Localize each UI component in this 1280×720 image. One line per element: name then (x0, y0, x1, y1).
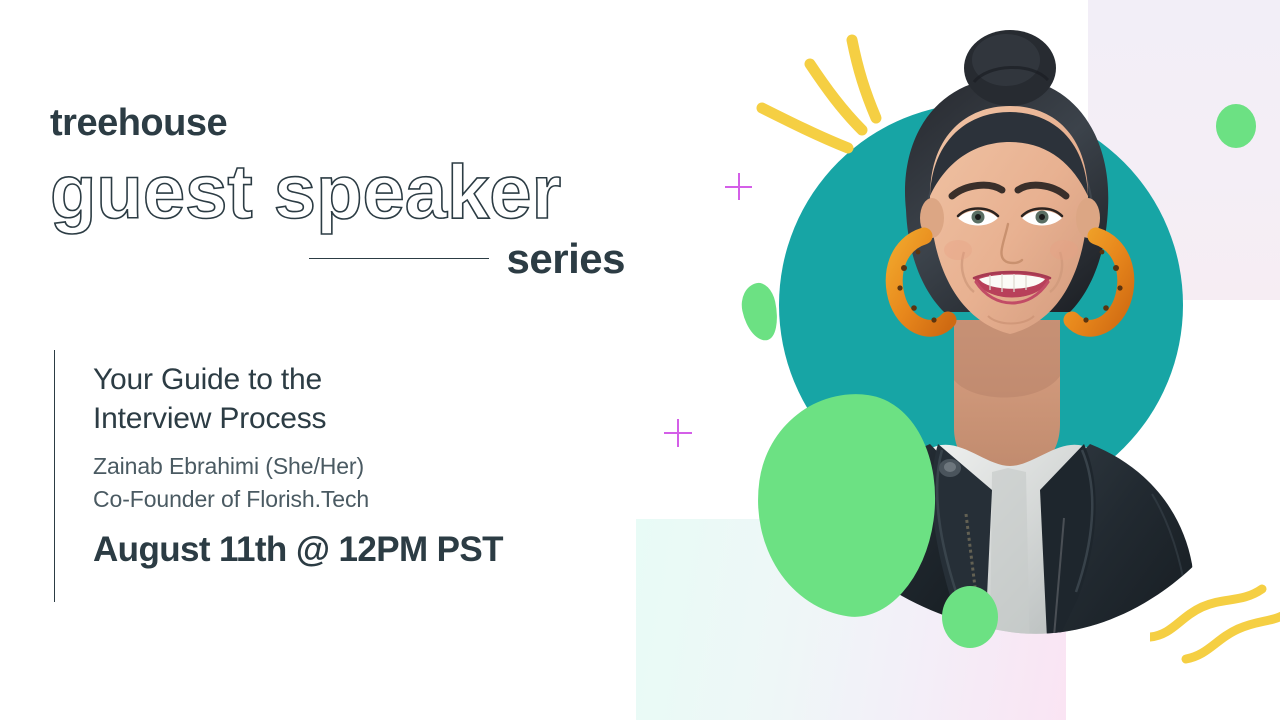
plus-mark-middle (664, 419, 692, 447)
green-blob-small (737, 280, 782, 344)
green-circle-bottom (942, 586, 998, 648)
yellow-burst-decoration (740, 30, 920, 210)
brand-name: treehouse (50, 104, 650, 142)
talk-title-line-2: Interview Process (93, 399, 503, 438)
talk-title-line-1: Your Guide to the (93, 360, 503, 399)
event-datetime: August 11th @ 12PM PST (93, 531, 503, 570)
speaker-name: Zainab Ebrahimi (She/Her) (93, 450, 503, 483)
green-circle-top-right (1216, 104, 1256, 148)
yellow-squiggle-decoration (1150, 575, 1280, 705)
brand-lockup: treehouse guest speaker series (50, 104, 650, 280)
speaker-role: Co-Founder of Florish.Tech (93, 483, 503, 516)
series-divider-rule (309, 258, 489, 260)
series-row: series (50, 238, 625, 280)
series-label: series (507, 238, 625, 280)
talk-details: Your Guide to the Interview Process Zain… (54, 350, 503, 602)
plus-mark-top (725, 173, 752, 200)
headline-guest-speaker: guest speaker (50, 154, 650, 232)
slide-canvas: Smiling woman with dark hair in a top bu… (0, 0, 1280, 720)
